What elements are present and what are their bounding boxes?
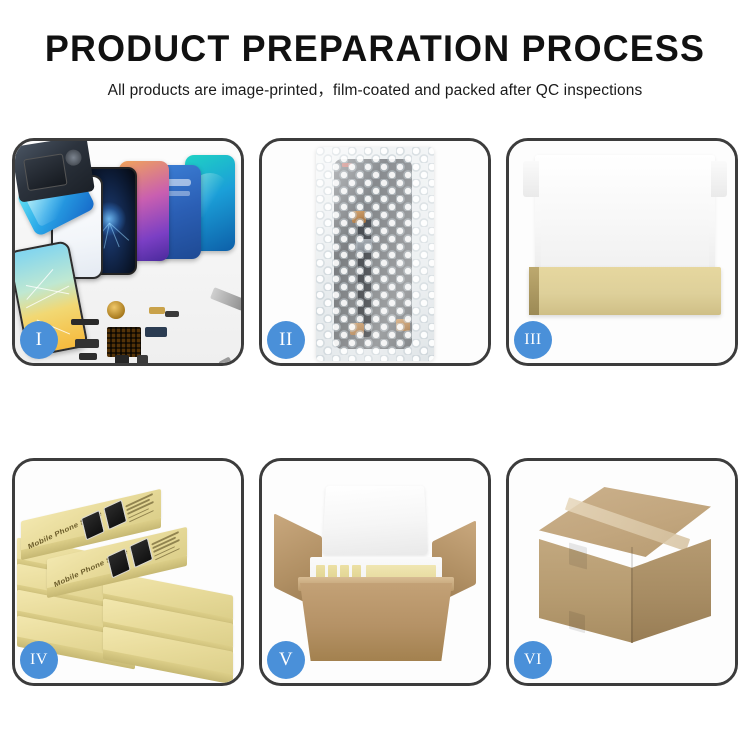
process-steps-grid: I xyxy=(12,138,738,686)
step-badge-2: II xyxy=(267,321,305,359)
process-step-panel-6[interactable]: VI xyxy=(506,458,738,686)
step-badge-4: IV xyxy=(20,641,58,679)
process-step-panel-1[interactable]: I xyxy=(12,138,244,366)
bubble-wrap-bag xyxy=(316,147,434,361)
process-step-panel-3[interactable]: III xyxy=(506,138,738,366)
step-badge-3: III xyxy=(514,321,552,359)
page-subtitle: All products are image-printed，film-coat… xyxy=(0,78,750,100)
carton-body xyxy=(300,583,452,661)
step-badge-6: VI xyxy=(514,641,552,679)
process-step-panel-2[interactable]: II xyxy=(259,138,491,366)
flex-cable-part-4 xyxy=(165,311,179,317)
button-part xyxy=(79,353,97,360)
page-title: PRODUCT PREPARATION PROCESS xyxy=(11,30,739,69)
foam-sheet xyxy=(541,191,709,277)
process-step-panel-4[interactable]: Mobile Phone Spare Parts Mobile Phone Sp… xyxy=(12,458,244,686)
yellow-box-tray xyxy=(529,267,721,315)
flex-cable-part-3 xyxy=(149,307,165,314)
step-badge-5: V xyxy=(267,641,305,679)
flex-cable-part-2 xyxy=(145,327,167,337)
flex-cable-part-1 xyxy=(75,339,99,348)
plastic-glare xyxy=(316,147,434,361)
carton-edge xyxy=(631,547,633,643)
small-camera-part xyxy=(137,355,148,363)
speaker-part xyxy=(115,355,129,363)
header: PRODUCT PREPARATION PROCESS All products… xyxy=(0,0,750,100)
product-preparation-infographic: PRODUCT PREPARATION PROCESS All products… xyxy=(0,0,750,750)
camera-module-part xyxy=(107,301,125,319)
step-badge-1: I xyxy=(20,321,58,359)
screw-grid-part xyxy=(107,327,141,357)
foam-lid-open xyxy=(322,486,428,555)
flex-strip-part xyxy=(71,319,99,325)
process-step-panel-5[interactable]: V xyxy=(259,458,491,686)
